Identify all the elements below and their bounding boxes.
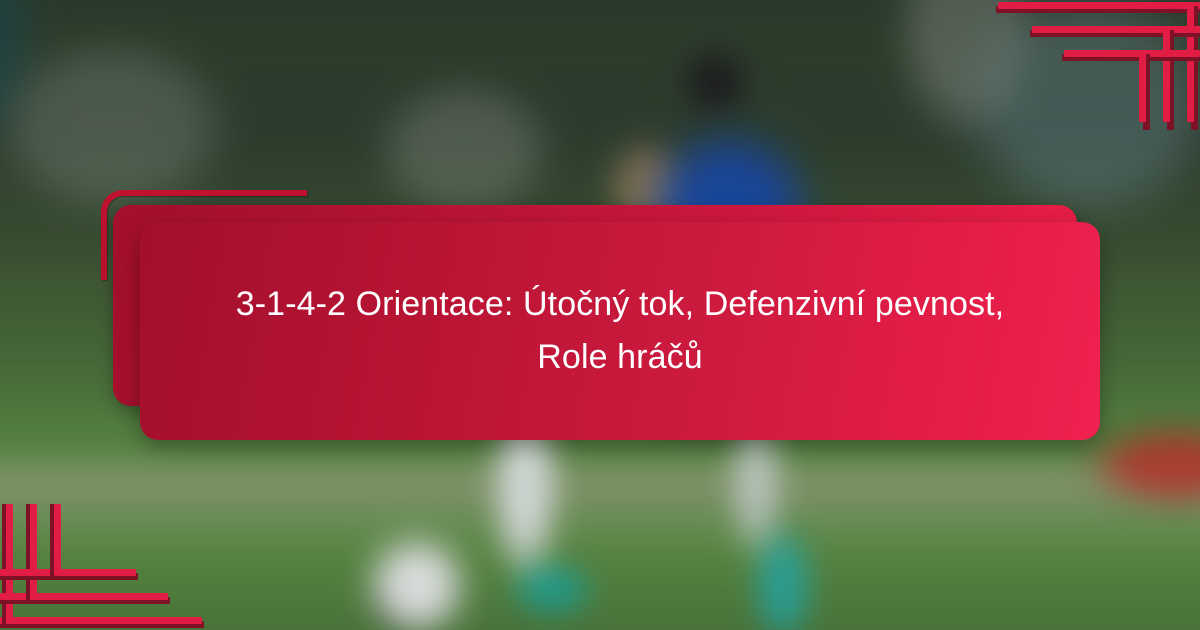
page-title: 3-1-4-2 Orientace: Útočný tok, Defenzivn… [230, 278, 1010, 383]
corner-decoration-top-right [1000, 0, 1200, 120]
banner-stage: 3-1-4-2 Orientace: Útočný tok, Defenzivn… [0, 0, 1200, 630]
corner-decoration-bottom-left [0, 510, 200, 630]
title-card: 3-1-4-2 Orientace: Útočný tok, Defenzivn… [140, 222, 1100, 440]
